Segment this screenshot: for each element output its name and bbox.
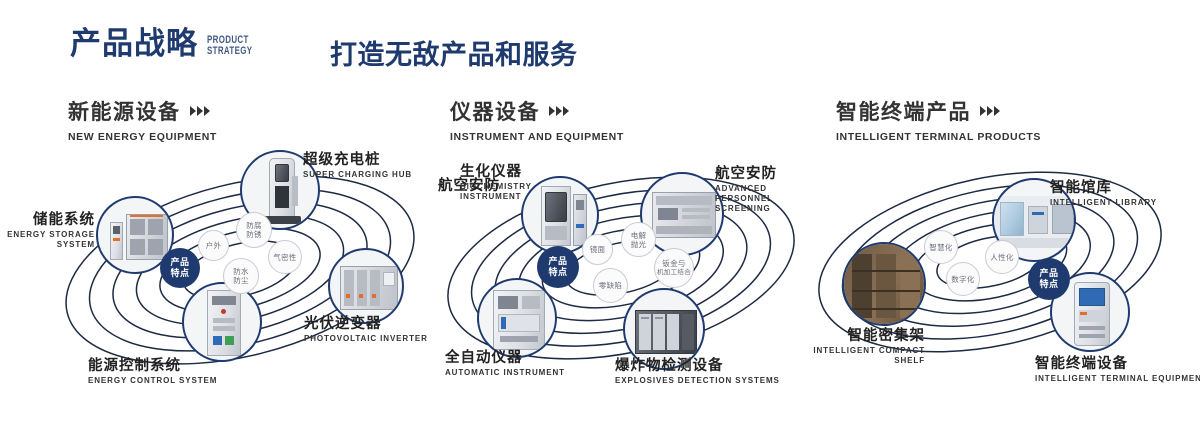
- energy-control-image: [184, 284, 260, 360]
- compact-shelf-image: [844, 244, 924, 324]
- bubble-line1: 智慧化: [929, 243, 952, 252]
- badge-product-features: 产品 特点: [160, 248, 200, 288]
- feature-bubble-digitalized: 数字化: [946, 262, 980, 296]
- label-cn: 储能系统: [0, 212, 95, 229]
- feature-bubble-outdoor: 户外: [198, 230, 229, 261]
- page-title-en-line2: STRATEGY: [207, 46, 252, 57]
- cluster-intelligent-terminal: 产品 特点 智慧化 人性化 数字化 智能馆库 INTELLIGENT LIBRA…: [810, 150, 1200, 390]
- section-title-instrument: 仪器设备 INSTRUMENT AND EQUIPMENT: [450, 96, 624, 143]
- bubble-line2: 防尘: [233, 276, 249, 285]
- section-title-en: INSTRUMENT AND EQUIPMENT: [450, 131, 624, 143]
- page-title: 产品战略 PRODUCT STRATEGY: [70, 28, 270, 59]
- bubble-line1: 电解: [631, 231, 647, 240]
- badge-product-features: 产品 特点: [1028, 258, 1070, 300]
- label-cn: 能源控制系统: [88, 358, 217, 375]
- badge-line1: 产品: [170, 257, 189, 268]
- label-en: PHOTOVOLTAIC INVERTER: [304, 334, 428, 344]
- label-automatic-instrument: 全自动仪器 AUTOMATIC INSTRUMENT: [445, 350, 565, 378]
- feature-bubble-sheetmetal-machining: 钣金与 机加工结合: [654, 248, 694, 288]
- page-subtitle: 打造无敌产品和服务: [330, 33, 578, 72]
- label-cn: 爆炸物检测设备: [615, 358, 780, 375]
- label-compact-shelf: 智能密集架 INTELLIGENT COMPACT SHELF: [805, 328, 925, 366]
- label-energy-control: 能源控制系统 ENERGY CONTROL SYSTEM: [88, 358, 217, 386]
- feature-bubble-intelligent: 智慧化: [924, 230, 958, 264]
- label-terminal-equipment: 智能终端设备 INTELLIGENT TERMINAL EQUIPMENT: [1035, 356, 1200, 384]
- label-charging-hub: 超级充电桩 SUPER CHARGING HUB: [303, 152, 412, 180]
- section-title-en: NEW ENERGY EQUIPMENT: [68, 131, 217, 143]
- pv-inverter-image: [330, 250, 402, 322]
- label-en: AUTOMATIC INSTRUMENT: [445, 368, 565, 378]
- label-en: INTELLIGENT TERMINAL EQUIPMENT: [1035, 374, 1200, 384]
- section-title-new-energy: 新能源设备 NEW ENERGY EQUIPMENT: [68, 96, 217, 143]
- node-automatic-instrument[interactable]: [477, 278, 557, 358]
- feature-bubble-waterproof: 防水 防尘: [223, 258, 259, 294]
- bubble-line2: 抛光: [631, 240, 647, 249]
- feature-bubble-electropolishing: 电解 抛光: [621, 222, 656, 257]
- bubble-line1: 户外: [206, 241, 222, 250]
- label-pv-inverter: 光伏逆变器 PHOTOVOLTAIC INVERTER: [304, 316, 428, 344]
- bubble-line2: 防锈: [246, 230, 262, 239]
- automatic-instrument-image: [479, 280, 555, 356]
- feature-bubble-humanized: 人性化: [985, 240, 1019, 274]
- feature-bubble-anticorrosion: 防腐 防锈: [236, 212, 272, 248]
- label-en: BIOCHEMISTRY INSTRUMENT: [460, 182, 548, 202]
- label-en: ADVANCED PERSONNEL SCREENING: [715, 184, 807, 214]
- label-biochemistry-instrument: 生化仪器 BIOCHEMISTRY INSTRUMENT: [460, 164, 548, 202]
- label-en: INTELLIGENT COMPACT SHELF: [805, 346, 925, 366]
- bubble-line1: 气密性: [273, 253, 296, 262]
- section-title-en: INTELLIGENT TERMINAL PRODUCTS: [836, 131, 1041, 143]
- label-cn: 智能终端设备: [1035, 356, 1200, 373]
- label-intelligent-library: 智能馆库 INTELLIGENT LIBRARY: [1050, 180, 1157, 208]
- badge-line2: 特点: [170, 268, 189, 279]
- label-en: ENERGY CONTROL SYSTEM: [88, 376, 217, 386]
- feature-bubble-zero-defect: 零缺陷: [593, 268, 628, 303]
- page-title-cn: 产品战略: [70, 28, 198, 59]
- chevron-right-icon: [549, 106, 569, 116]
- label-en: ENERGY STORAGE SYSTEM: [0, 230, 95, 250]
- bubble-line1: 钣金与: [657, 259, 691, 268]
- label-cn: 全自动仪器: [445, 350, 565, 367]
- badge-line1: 产品: [1039, 268, 1058, 279]
- chevron-right-icon: [980, 106, 1000, 116]
- section-title-cn: 新能源设备: [68, 96, 181, 126]
- bubble-line1: 人性化: [990, 253, 1013, 262]
- cluster-new-energy: 产品 特点 户外 防腐 防锈 防水 防尘 气密性 储能系统 ENERGY ST: [40, 150, 440, 390]
- label-cn: 智能密集架: [805, 328, 925, 345]
- explosives-detection-image: [625, 290, 703, 368]
- bubble-line2: 机加工结合: [657, 268, 691, 277]
- section-title-intelligent-terminal: 智能终端产品 INTELLIGENT TERMINAL PRODUCTS: [836, 96, 1041, 143]
- label-en: EXPLOSIVES DETECTION SYSTEMS: [615, 376, 780, 386]
- bubble-line1: 数字化: [951, 275, 974, 284]
- chevron-right-icon: [190, 106, 210, 116]
- feature-bubble-mirror-finish: 镜面: [582, 234, 613, 265]
- label-advanced-screening: 航空安防 ADVANCED PERSONNEL SCREENING: [715, 166, 807, 214]
- badge-product-features: 产品 特点: [537, 246, 579, 288]
- cluster-instrument: 产品 特点 镜面 电解 抛光 零缺陷 钣金与 机加工结合 航空安防: [425, 150, 825, 390]
- section-title-cn: 智能终端产品: [836, 96, 971, 126]
- label-cn: 智能馆库: [1050, 180, 1157, 197]
- bubble-line1: 防腐: [246, 221, 262, 230]
- bubble-line1: 防水: [233, 267, 249, 276]
- badge-line2: 特点: [1039, 279, 1058, 290]
- feature-bubble-airtightness: 气密性: [268, 240, 302, 274]
- bubble-line1: 镜面: [590, 245, 606, 254]
- label-energy-storage: 储能系统 ENERGY STORAGE SYSTEM: [0, 212, 95, 250]
- label-cn: 光伏逆变器: [304, 316, 428, 333]
- node-pv-inverter[interactable]: [328, 248, 404, 324]
- node-energy-control[interactable]: [182, 282, 262, 362]
- node-compact-shelf[interactable]: [842, 242, 926, 326]
- bubble-line1: 零缺陷: [599, 281, 622, 290]
- label-en: INTELLIGENT LIBRARY: [1050, 198, 1157, 208]
- section-title-cn: 仪器设备: [450, 96, 540, 126]
- page-title-en: PRODUCT STRATEGY: [207, 35, 252, 57]
- product-strategy-infographic: 产品战略 PRODUCT STRATEGY 打造无敌产品和服务 新能源设备 NE…: [0, 0, 1200, 422]
- label-cn: 生化仪器: [460, 164, 548, 181]
- label-explosives-detection: 爆炸物检测设备 EXPLOSIVES DETECTION SYSTEMS: [615, 358, 780, 386]
- badge-line2: 特点: [548, 267, 567, 278]
- label-cn: 超级充电桩: [303, 152, 412, 169]
- label-cn: 航空安防: [715, 166, 807, 183]
- badge-line1: 产品: [548, 256, 567, 267]
